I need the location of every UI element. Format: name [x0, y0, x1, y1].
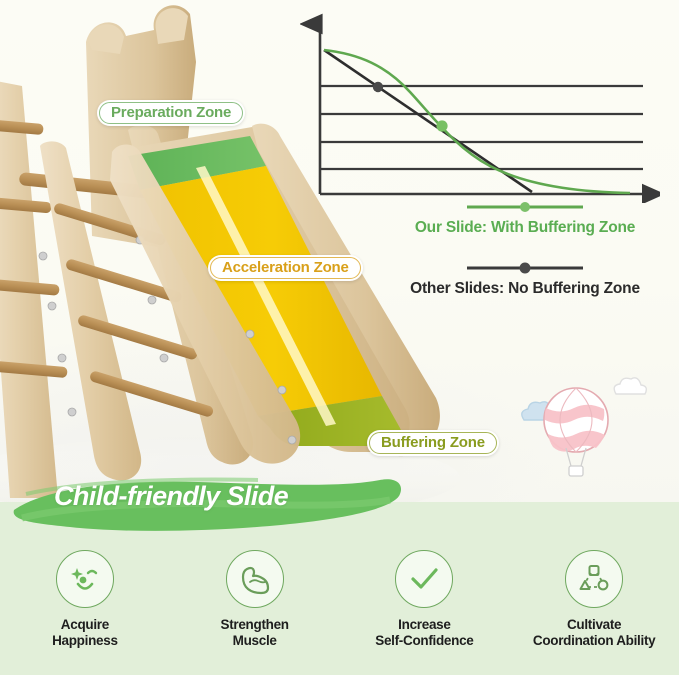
shapes-cycle-icon — [565, 550, 623, 608]
benefits-list: Acquire Happiness Strengthen Muscle — [0, 550, 679, 650]
happy-face-icon — [56, 550, 114, 608]
legend-swatch-green — [465, 200, 585, 214]
benefit-label-increase-self-confidence: Increase Self-Confidence — [340, 617, 508, 650]
zone-label-buffering: Buffering Zone — [367, 430, 499, 456]
legend-spacer — [380, 239, 670, 261]
legend-label-our-slide: Our Slide: With Buffering Zone — [380, 219, 670, 237]
zone-label-buffering-text: Buffering Zone — [381, 434, 485, 451]
benefit-label-strengthen-muscle: Strengthen Muscle — [171, 617, 339, 650]
zone-label-acceleration: Acceleration Zone — [208, 255, 363, 281]
zone-label-preparation: Preparation Zone — [97, 100, 245, 126]
ladder-back — [0, 78, 68, 498]
series-our-slide-marker — [436, 120, 447, 131]
legend-item-our-slide: Our Slide: With Buffering Zone — [380, 200, 670, 237]
banner-title: Child-friendly Slide — [54, 481, 288, 512]
flexed-bicep-icon — [226, 550, 284, 608]
benefit-item-strengthen-muscle: Strengthen Muscle — [171, 550, 339, 650]
series-our-slide-curve — [324, 50, 630, 193]
buffering-comparison-chart — [300, 8, 660, 203]
balloon-body — [544, 388, 608, 452]
benefit-label-cultivate-coordination: Cultivate Coordination Ability — [510, 617, 678, 650]
benefit-line-2: Muscle — [171, 633, 339, 649]
benefits-panel: Child-friendly Slide Acquire Happiness — [0, 502, 679, 675]
product-photo: Our Slide: With Buffering Zone Other Sli… — [0, 0, 679, 505]
zone-label-acceleration-text: Acceleration Zone — [222, 259, 349, 276]
legend-label-other-slides: Other Slides: No Buffering Zone — [380, 280, 670, 298]
benefit-item-cultivate-coordination: Cultivate Coordination Ability — [510, 550, 678, 650]
benefit-label-acquire-happiness: Acquire Happiness — [1, 617, 169, 650]
hot-air-balloon-decoration — [508, 372, 648, 482]
zone-label-preparation-text: Preparation Zone — [111, 104, 231, 121]
benefit-item-acquire-happiness: Acquire Happiness — [1, 550, 169, 650]
benefit-line-2: Coordination Ability — [510, 633, 678, 649]
benefit-line-1: Increase — [340, 617, 508, 633]
product-infographic: Our Slide: With Buffering Zone Other Sli… — [0, 0, 679, 675]
benefit-line-2: Happiness — [1, 633, 169, 649]
benefit-line-1: Strengthen — [171, 617, 339, 633]
series-other-slides-marker — [373, 82, 383, 92]
benefit-line-1: Acquire — [1, 617, 169, 633]
legend-swatch-black — [465, 261, 585, 275]
benefit-item-increase-self-confidence: Increase Self-Confidence — [340, 550, 508, 650]
legend-item-other-slides: Other Slides: No Buffering Zone — [380, 261, 670, 298]
benefit-line-1: Cultivate — [510, 617, 678, 633]
benefit-line-2: Self-Confidence — [340, 633, 508, 649]
chart-legend: Our Slide: With Buffering Zone Other Sli… — [380, 200, 670, 300]
checkmark-icon — [395, 550, 453, 608]
